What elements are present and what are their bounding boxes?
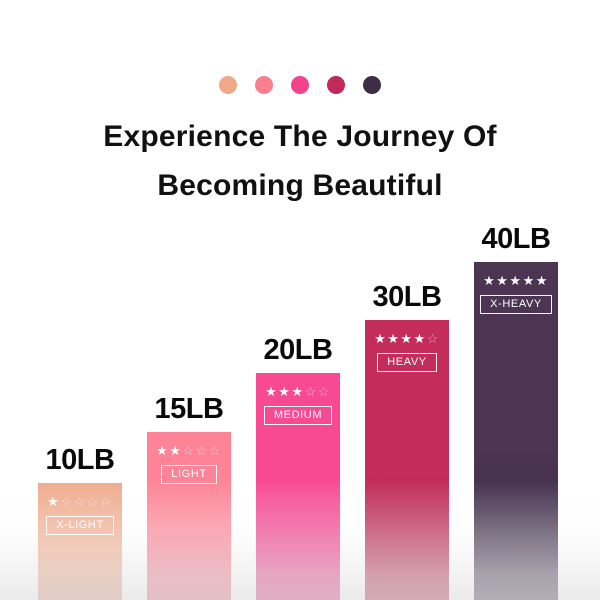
star-empty-icon: ☆	[60, 494, 73, 509]
star-empty-icon: ☆	[318, 384, 331, 399]
star-filled-icon: ★	[265, 384, 278, 399]
bar-weight-label: 20LB	[264, 334, 333, 367]
poster-canvas: Experience The Journey OfBecoming Beauti…	[0, 0, 600, 600]
star-filled-icon: ★	[496, 273, 509, 288]
bar-column[interactable]: ★☆☆☆☆X-LIGHT	[38, 483, 122, 600]
star-filled-icon: ★	[536, 273, 549, 288]
star-filled-icon: ★	[278, 384, 291, 399]
star-empty-icon: ☆	[182, 443, 195, 458]
star-rating: ★☆☆☆☆	[38, 495, 122, 509]
bar-level-tag-wrap: MEDIUM	[256, 399, 340, 425]
star-rating: ★★★★★	[474, 274, 558, 288]
bar-group-light[interactable]: 15LB★★☆☆☆LIGHT	[147, 393, 231, 600]
bar-level-tag-wrap: X-LIGHT	[38, 509, 122, 535]
star-filled-icon: ★	[374, 331, 387, 346]
bar-column[interactable]: ★★★★★X-HEAVY	[474, 262, 558, 600]
bar-level-tag: LIGHT	[161, 465, 216, 484]
bar-level-tag: HEAVY	[377, 353, 436, 372]
bar-level-tag-wrap: HEAVY	[365, 346, 449, 372]
bar-weight-label: 10LB	[46, 444, 115, 477]
resistance-bar-chart: 10LB★☆☆☆☆X-LIGHT15LB★★☆☆☆LIGHT20LB★★★☆☆M…	[0, 0, 600, 600]
star-rating: ★★★★☆	[365, 332, 449, 346]
bar-level-tag: X-HEAVY	[480, 295, 552, 314]
bar-group-medium[interactable]: 20LB★★★☆☆MEDIUM	[256, 334, 340, 600]
bar-group-x-light[interactable]: 10LB★☆☆☆☆X-LIGHT	[38, 444, 122, 600]
star-filled-icon: ★	[523, 273, 536, 288]
star-rating: ★★★☆☆	[256, 385, 340, 399]
bar-badge-group: ★★★★★X-HEAVY	[474, 274, 558, 314]
star-filled-icon: ★	[414, 331, 427, 346]
bar-group-heavy[interactable]: 30LB★★★★☆HEAVY	[365, 281, 449, 600]
bar-column[interactable]: ★★★☆☆MEDIUM	[256, 373, 340, 600]
bar-level-tag-wrap: X-HEAVY	[474, 288, 558, 314]
star-filled-icon: ★	[47, 494, 60, 509]
star-filled-icon: ★	[169, 443, 182, 458]
bar-column[interactable]: ★★☆☆☆LIGHT	[147, 432, 231, 600]
star-empty-icon: ☆	[209, 443, 222, 458]
bar-weight-label: 15LB	[155, 393, 224, 426]
star-filled-icon: ★	[291, 384, 304, 399]
star-rating: ★★☆☆☆	[147, 444, 231, 458]
star-filled-icon: ★	[400, 331, 413, 346]
bar-weight-label: 40LB	[482, 223, 551, 256]
star-empty-icon: ☆	[73, 494, 86, 509]
star-filled-icon: ★	[483, 273, 496, 288]
star-empty-icon: ☆	[427, 331, 440, 346]
star-filled-icon: ★	[156, 443, 169, 458]
star-empty-icon: ☆	[196, 443, 209, 458]
bar-level-tag-wrap: LIGHT	[147, 458, 231, 484]
star-empty-icon: ☆	[305, 384, 318, 399]
bar-level-tag: X-LIGHT	[46, 516, 114, 535]
bar-badge-group: ★★★☆☆MEDIUM	[256, 385, 340, 425]
star-empty-icon: ☆	[100, 494, 113, 509]
bar-badge-group: ★☆☆☆☆X-LIGHT	[38, 495, 122, 535]
bar-level-tag: MEDIUM	[264, 406, 332, 425]
star-empty-icon: ☆	[87, 494, 100, 509]
bar-column[interactable]: ★★★★☆HEAVY	[365, 320, 449, 600]
star-filled-icon: ★	[387, 331, 400, 346]
bar-badge-group: ★★☆☆☆LIGHT	[147, 444, 231, 484]
bar-weight-label: 30LB	[373, 281, 442, 314]
bar-badge-group: ★★★★☆HEAVY	[365, 332, 449, 372]
bar-group-x-heavy[interactable]: 40LB★★★★★X-HEAVY	[474, 223, 558, 600]
star-filled-icon: ★	[509, 273, 522, 288]
